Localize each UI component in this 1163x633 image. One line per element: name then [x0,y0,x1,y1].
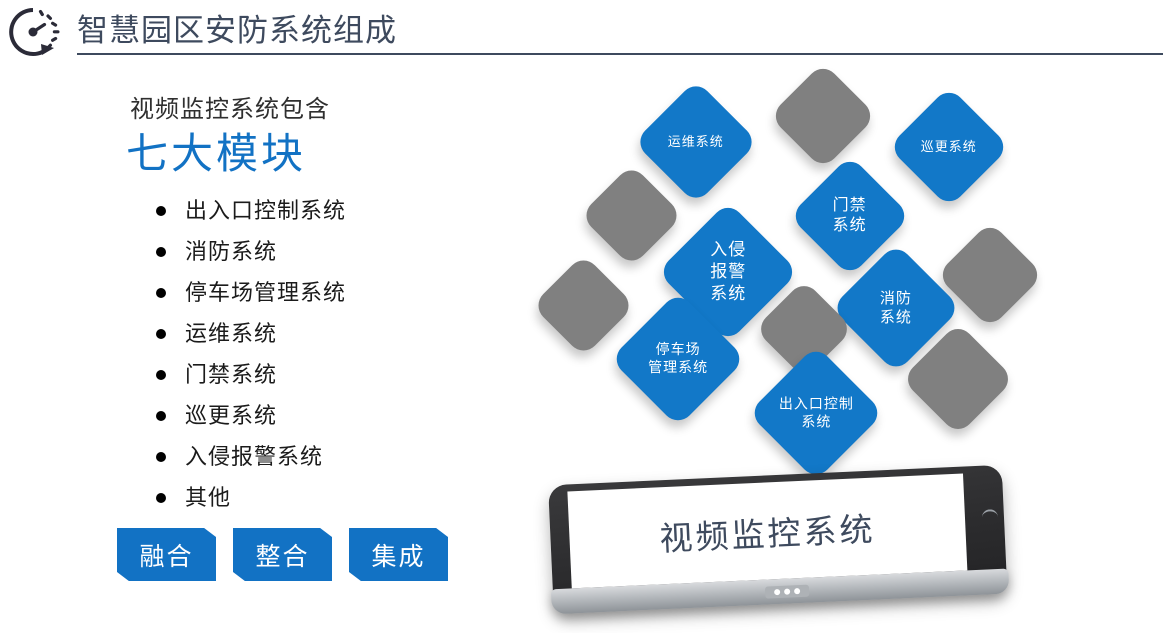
list-item[interactable]: 门禁系统 [150,354,346,395]
diamond-node-decorative [769,62,876,169]
bullet-icon [156,452,166,462]
tag-button-integration[interactable]: 集成 [349,528,448,581]
list-item-label: 停车场管理系统 [185,280,346,305]
list-item[interactable]: 入侵报警系统 [150,436,346,477]
diamond-node-label: 停车场 管理系统 [648,341,708,377]
bullet-icon [156,288,166,298]
home-dot [784,589,790,595]
home-button-dots[interactable] [765,585,809,599]
list-item[interactable]: 巡更系统 [150,395,346,436]
tag-button-consolidation[interactable]: 整合 [233,528,332,581]
bullet-icon [156,411,166,421]
list-item-label: 消防系统 [185,239,277,264]
diamond-node-decorative [532,254,635,357]
diamond-node-出入口控制系统[interactable]: 出入口控制 系统 [748,345,884,481]
diamond-node-label: 出入口控制 系统 [779,395,854,431]
tag-button-fusion[interactable]: 融合 [117,528,216,581]
bullet-icon [156,206,166,216]
diamond-node-label: 入侵 报警 系统 [710,239,746,304]
list-item-label: 出入口控制系统 [185,198,346,223]
diamond-cluster-diagram: 运维系统巡更系统门禁 系统入侵 报警 系统消防 系统停车场 管理系统出入口控制 … [520,62,1163,482]
list-item[interactable]: 出入口控制系统 [150,190,346,231]
list-item-label: 入侵报警系统 [185,444,323,469]
page-title: 智慧园区安防系统组成 [77,5,397,50]
bullet-icon [156,370,166,380]
home-dot [794,588,800,594]
diamond-node-巡更系统[interactable]: 巡更系统 [888,86,1010,208]
diamond-node-decorative [580,164,683,267]
bullet-icon [156,329,166,339]
left-content-panel: 视频监控系统包含 七大模块 出入口控制系统 消防系统 停车场管理系统 运维系统 … [0,62,520,622]
home-dot [774,589,780,595]
tag-button-row: 融合 整合 集成 [117,528,448,581]
diamond-node-label: 巡更系统 [921,139,977,156]
page-header: 智慧园区安防系统组成 [0,0,1163,62]
list-item-label: 运维系统 [185,321,277,346]
list-item[interactable]: 停车场管理系统 [150,272,346,313]
stopwatch-timer-icon [4,4,62,60]
list-item[interactable]: 其他 [150,477,346,518]
list-item-label: 其他 [185,485,231,510]
tablet-device: 视频监控系统 [540,456,1017,632]
diamond-node-label: 运维系统 [668,134,724,151]
tablet-screen: 视频监控系统 [567,474,967,589]
list-item[interactable]: 运维系统 [150,313,346,354]
screen-title: 视频监控系统 [658,502,876,560]
list-item-label: 门禁系统 [185,362,277,387]
bullet-icon [156,247,166,257]
highlight-headline: 七大模块 [126,120,306,181]
list-item-label: 巡更系统 [185,403,277,428]
diamond-node-label: 消防 系统 [880,289,912,327]
list-item[interactable]: 消防系统 [150,231,346,272]
lead-line: 视频监控系统包含 [130,89,330,124]
module-list: 出入口控制系统 消防系统 停车场管理系统 运维系统 门禁系统 巡更系统 入侵报警… [150,190,346,518]
bullet-icon [156,493,166,503]
diamond-node-label: 门禁 系统 [833,196,867,237]
title-divider [77,53,1163,55]
